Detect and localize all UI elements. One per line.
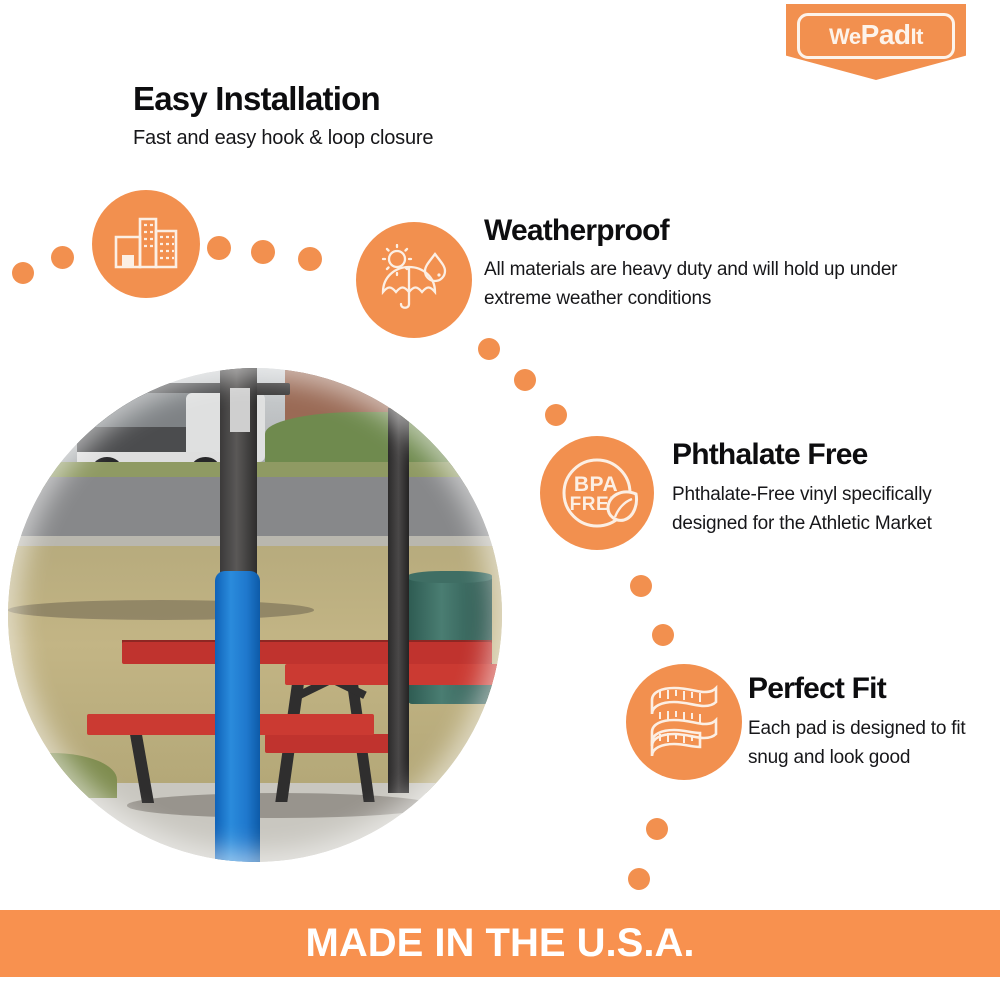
tape-measure-icon bbox=[626, 664, 742, 780]
product-photo bbox=[8, 368, 502, 862]
umbrella-sun-raindrop-icon bbox=[356, 222, 472, 338]
photo-table-top bbox=[122, 642, 493, 664]
feature-description-easy-installation: Fast and easy hook & loop closure bbox=[133, 124, 553, 152]
path-dot bbox=[298, 247, 322, 271]
photo-trash-can-rim bbox=[408, 571, 492, 583]
photo-bench bbox=[265, 734, 393, 754]
path-dot bbox=[12, 262, 34, 284]
feature-title-phthalate-free: Phthalate Free bbox=[672, 438, 868, 472]
path-dot bbox=[207, 236, 231, 260]
made-in-usa-banner: MADE IN THE U.S.A. bbox=[0, 910, 1000, 977]
building-icon bbox=[92, 190, 200, 298]
logo-inner-border: WePadIt bbox=[797, 13, 955, 59]
feature-title-perfect-fit: Perfect Fit bbox=[748, 672, 886, 706]
logo-text: WePadIt bbox=[829, 21, 923, 49]
logo-text-pad: Pad bbox=[861, 19, 911, 50]
logo-text-we: We bbox=[829, 24, 861, 49]
made-in-usa-text: MADE IN THE U.S.A. bbox=[306, 921, 695, 966]
feature-title-weatherproof: Weatherproof bbox=[484, 214, 669, 248]
logo-text-it: It bbox=[911, 24, 923, 49]
photo-pole-plate bbox=[230, 388, 250, 432]
photo-dirt-patch bbox=[8, 600, 314, 620]
photo-hedge bbox=[265, 412, 502, 466]
bpa-free-leaf-icon: BPA FREE bbox=[540, 436, 654, 550]
path-dot bbox=[545, 404, 567, 426]
infographic-page: WePadIt Easy Installation Fast and easy … bbox=[0, 0, 1000, 987]
path-dot bbox=[251, 240, 275, 264]
photo-pole-right bbox=[388, 408, 409, 793]
path-dot bbox=[652, 624, 674, 646]
svg-text:BPA: BPA bbox=[574, 473, 618, 496]
path-dot bbox=[514, 369, 536, 391]
brand-logo[interactable]: WePadIt bbox=[786, 4, 966, 80]
path-dot bbox=[478, 338, 500, 360]
path-dot bbox=[630, 575, 652, 597]
photo-blue-pole-pad bbox=[215, 571, 259, 862]
feature-description-perfect-fit: Each pad is designed to fit snug and loo… bbox=[748, 714, 978, 772]
path-dot bbox=[51, 246, 74, 269]
path-dot bbox=[646, 818, 668, 840]
feature-description-phthalate-free: Phthalate-Free vinyl specifically design… bbox=[672, 480, 942, 538]
feature-description-weatherproof: All materials are heavy duty and will ho… bbox=[484, 255, 914, 313]
path-dot bbox=[628, 868, 650, 890]
feature-title-easy-installation: Easy Installation bbox=[133, 80, 380, 118]
photo-window bbox=[403, 378, 438, 408]
